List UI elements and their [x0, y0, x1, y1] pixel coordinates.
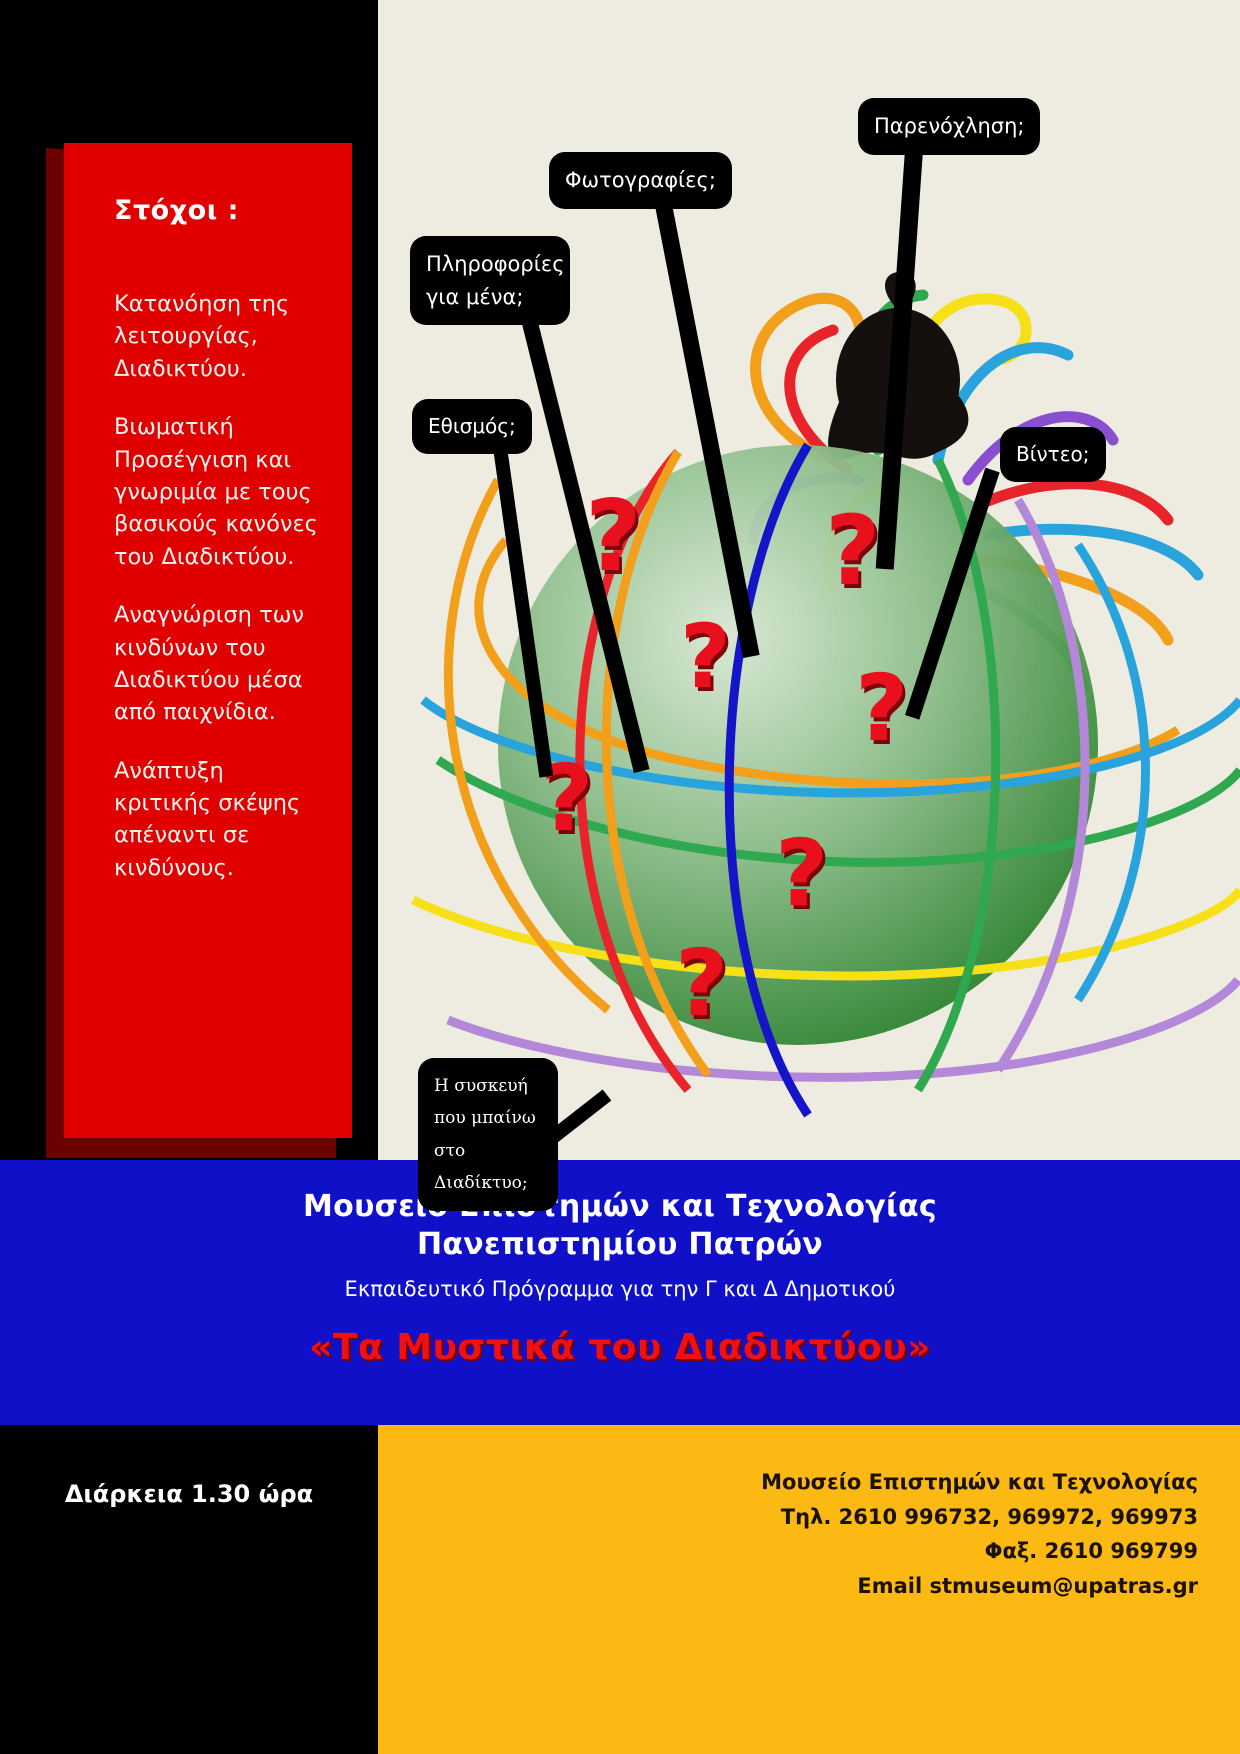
bubble-photos[interactable]: Φωτογραφίες; — [549, 152, 732, 209]
bubble-video[interactable]: Βίντεο; — [1000, 427, 1106, 482]
question-mark-icon: ? — [855, 655, 908, 762]
objectives-panel: Στόχοι : Κατανόηση της λειτουργίας, Διαδ… — [64, 143, 352, 1138]
museum-title-line1: Μουσείο Επιστημών και Τεχνολογίας — [303, 1189, 937, 1224]
contact-line-phone: Τηλ. 2610 996732, 969972, 969973 — [761, 1500, 1198, 1535]
contact-panel: Μουσείο Επιστημών και Τεχνολογίας Τηλ. 2… — [378, 1425, 1240, 1754]
question-mark-icon: ? — [825, 495, 881, 607]
objective-item: Βιωματική Προσέγγιση και γνωριμία με του… — [114, 411, 324, 573]
objective-item: Αναγνώριση των κινδύνων του Διαδικτύου μ… — [114, 599, 324, 729]
bubble-label: Πληροφορίες για μένα; — [426, 252, 565, 309]
question-mark-icon: ? — [680, 605, 731, 708]
objective-item: Ανάπτυξη κριτικής σκέψης απέναντι σε κιν… — [114, 755, 324, 885]
objectives-title: Στόχοι : — [114, 195, 324, 226]
museum-title-line2: Πανεπιστημίου Πατρών — [417, 1227, 823, 1262]
duration-panel — [0, 1425, 378, 1754]
globe-illustration — [378, 0, 1240, 1160]
question-mark-icon: ? — [775, 820, 828, 927]
contact-line-email[interactable]: Email stmuseum@upatras.gr — [761, 1569, 1198, 1604]
stage-background: ? ? ? ? ? ? ? Παρενόχληση; Φωτογραφίες; … — [0, 0, 1240, 1160]
bubble-label: Φωτογραφίες; — [565, 168, 716, 192]
museum-title: Μουσείο Επιστημών και Τεχνολογίας Πανεπι… — [0, 1160, 1240, 1265]
bubble-label: Παρενόχληση; — [874, 114, 1024, 138]
bubble-info-about-me[interactable]: Πληροφορίες για μένα; — [410, 236, 570, 325]
contact-line-museum: Μουσείο Επιστημών και Τεχνολογίας — [761, 1465, 1198, 1500]
contact-details: Μουσείο Επιστημών και Τεχνολογίας Τηλ. 2… — [761, 1465, 1198, 1604]
objective-item: Κατανόηση της λειτουργίας, Διαδικτύου. — [114, 288, 324, 385]
bubble-label: Η συσκευή που μπαίνω στο Διαδίκτυο; — [434, 1076, 536, 1193]
question-mark-icon: ? — [675, 930, 728, 1037]
bubble-harassment[interactable]: Παρενόχληση; — [858, 98, 1040, 155]
program-subtitle: Εκπαιδευτικό Πρόγραμμα για την Γ και Δ Δ… — [0, 1277, 1240, 1301]
duration-label: Διάρκεια 1.30 ώρα — [0, 1480, 378, 1508]
bubble-label: Βίντεο; — [1016, 442, 1090, 466]
bubble-device[interactable]: Η συσκευή που μπαίνω στο Διαδίκτυο; — [418, 1058, 558, 1211]
poster: ? ? ? ? ? ? ? Παρενόχληση; Φωτογραφίες; … — [0, 0, 1240, 1754]
bubble-addiction[interactable]: Εθισμός; — [412, 399, 532, 454]
bubble-label: Εθισμός; — [428, 414, 516, 438]
contact-line-fax: Φαξ. 2610 969799 — [761, 1534, 1198, 1569]
program-main-title: «Τα Μυστικά του Διαδικτύου» — [0, 1327, 1240, 1368]
blue-banner: Μουσείο Επιστημών και Τεχνολογίας Πανεπι… — [0, 1160, 1240, 1425]
